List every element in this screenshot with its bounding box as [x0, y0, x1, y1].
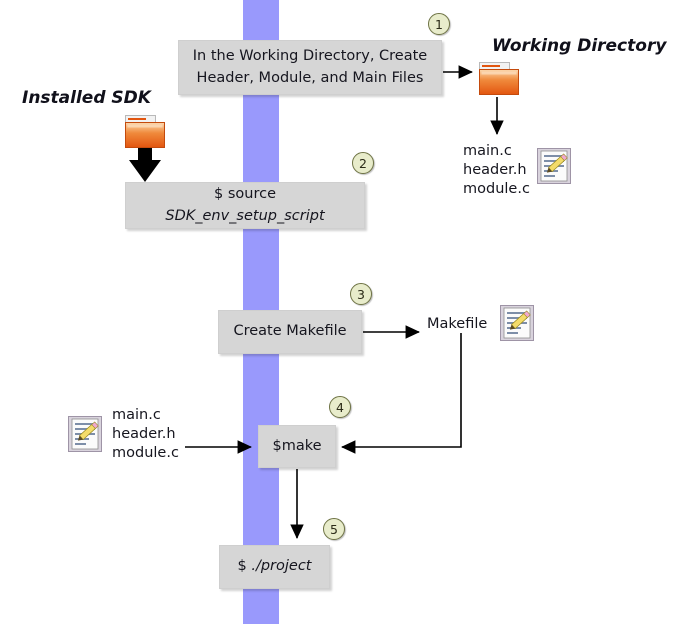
step-4-box[interactable]: $make: [258, 425, 336, 468]
step-badge-2: 2: [352, 152, 374, 174]
step-badge-4: 4: [329, 396, 351, 418]
working-directory-file-list: main.c header.h module.c: [463, 142, 530, 199]
step-badge-5: 5: [323, 518, 345, 540]
step-2-command-prefix: $ source: [214, 186, 276, 202]
step-1-line-1: In the Working Directory, Create: [193, 48, 427, 64]
diagram-canvas: Installed SDK Working Directory: [0, 0, 687, 624]
folder-icon: [479, 62, 519, 96]
working-directory-title: Working Directory: [492, 36, 666, 56]
step-2-box[interactable]: $ source SDK_env_setup_script: [125, 182, 365, 229]
step-2-command-argument: SDK_env_setup_script: [165, 208, 324, 224]
step-5-command-prefix: $: [238, 558, 252, 574]
step-1-box[interactable]: In the Working Directory, Create Header,…: [178, 40, 442, 95]
step-5-command-argument: ./project: [251, 558, 311, 574]
folder-icon: [125, 115, 165, 149]
text-editor-icon: [68, 416, 102, 452]
source-file-list: main.c header.h module.c: [112, 406, 179, 463]
step-4-label: $make: [272, 436, 321, 457]
text-editor-icon: [500, 305, 534, 341]
step-badge-1: 1: [428, 13, 450, 35]
step-1-line-2: Header, Module, and Main Files: [197, 70, 424, 86]
makefile-label: Makefile: [427, 315, 487, 334]
step-3-box[interactable]: Create Makefile: [218, 310, 362, 354]
text-editor-icon: [537, 148, 571, 184]
step-badge-3: 3: [350, 283, 372, 305]
installed-sdk-title: Installed SDK: [22, 88, 151, 108]
step-3-label: Create Makefile: [233, 321, 346, 342]
step-5-box[interactable]: $ ./project: [219, 545, 330, 589]
